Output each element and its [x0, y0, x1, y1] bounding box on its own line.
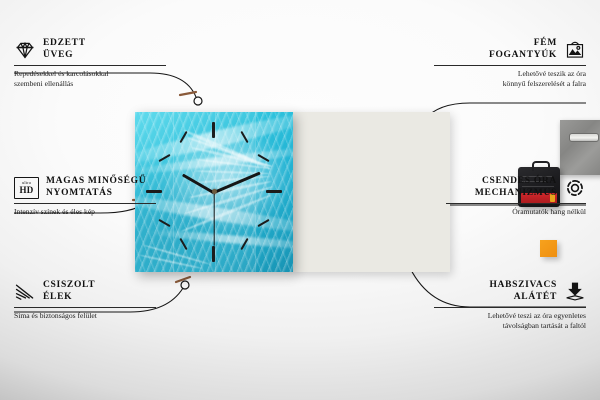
callout-title: CSISZOLTÉLEK — [43, 280, 95, 304]
callout-habszivacs-alatet: HABSZIVACSALÁTÉT Lehetővé teszi az óra e… — [434, 280, 586, 331]
polished-edges-icon — [14, 282, 36, 302]
foam-pad-arrow-icon — [564, 282, 586, 302]
pointer-dot-edzett-uveg — [194, 97, 202, 105]
callout-description: Lehetővé teszik az óra könnyű felszerelé… — [434, 69, 586, 89]
callout-csendes-ora-mechanizmus: CSENDES ÓRAMECHANIZMUS Óramutatók hang n… — [446, 176, 586, 217]
callout-header: CSISZOLTÉLEK — [14, 280, 156, 304]
callout-title: CSENDES ÓRAMECHANIZMUS — [475, 176, 557, 200]
clock-front-panel — [135, 112, 293, 272]
mechanism-hook — [532, 161, 550, 171]
callout-divider — [446, 203, 586, 204]
picture-hanger-icon — [564, 40, 586, 60]
hour-marker-12 — [212, 122, 215, 138]
callout-divider — [14, 307, 156, 308]
callout-fem-fogantyuk: FÉMFOGANTYÚK Lehetővé teszik az óra könn… — [434, 38, 586, 89]
callout-divider — [434, 307, 586, 308]
callout-header: FÉMFOGANTYÚK — [434, 38, 586, 62]
callout-divider — [434, 65, 586, 66]
callout-magas-minosegu-nyomtatas: ultra HD MAGAS MINŐSÉGŰNYOMTATÁS Intenzí… — [14, 176, 156, 217]
hanger-slot — [569, 133, 599, 142]
pointer-dot-csiszolt-elek — [181, 281, 189, 289]
second-hand — [213, 192, 214, 246]
ultra-hd-icon-main-text: HD — [19, 186, 33, 195]
callout-edzett-uveg: EDZETTÜVEG Repedésekkel és karcolásokkal… — [14, 38, 166, 89]
callout-description: Sima és biztonságos felület — [14, 311, 156, 321]
marker-highlight-top — [180, 92, 196, 95]
foam-spacer-pad — [540, 240, 557, 257]
infographic-canvas: EDZETTÜVEG Repedésekkel és karcolásokkal… — [0, 0, 600, 400]
marker-highlight-bottom — [176, 277, 190, 282]
callout-title: EDZETTÜVEG — [43, 38, 86, 62]
clock-back-panel — [290, 112, 450, 272]
hands-center-cap — [212, 189, 217, 194]
callout-header: CSENDES ÓRAMECHANIZMUS — [446, 176, 586, 200]
gear-icon — [564, 178, 586, 198]
callout-description: Intenzív színek és éles kép — [14, 207, 156, 217]
metal-hanger-plate — [560, 120, 600, 175]
callout-csiszolt-elek: CSISZOLTÉLEK Sima és biztonságos felület — [14, 280, 156, 321]
hour-marker-6 — [212, 246, 215, 262]
callout-description: Repedésekkel és karcolásokkal szembeni e… — [14, 69, 166, 89]
callout-divider — [14, 203, 156, 204]
callout-divider — [14, 65, 166, 66]
callout-description: Lehetővé teszi az óra egyenletes távolsá… — [434, 311, 586, 331]
hour-marker-3 — [266, 190, 282, 193]
callout-title: HABSZIVACSALÁTÉT — [489, 280, 557, 304]
callout-header: EDZETTÜVEG — [14, 38, 166, 62]
product-photo — [135, 112, 450, 272]
callout-title: MAGAS MINŐSÉGŰNYOMTATÁS — [46, 176, 146, 200]
callout-header: ultra HD MAGAS MINŐSÉGŰNYOMTATÁS — [14, 176, 156, 200]
diamond-icon — [14, 40, 36, 60]
callout-title: FÉMFOGANTYÚK — [489, 38, 557, 62]
callout-header: HABSZIVACSALÁTÉT — [434, 280, 586, 304]
callout-description: Óramutatók hang nélkül — [446, 207, 586, 217]
ultra-hd-icon: ultra HD — [14, 177, 39, 199]
